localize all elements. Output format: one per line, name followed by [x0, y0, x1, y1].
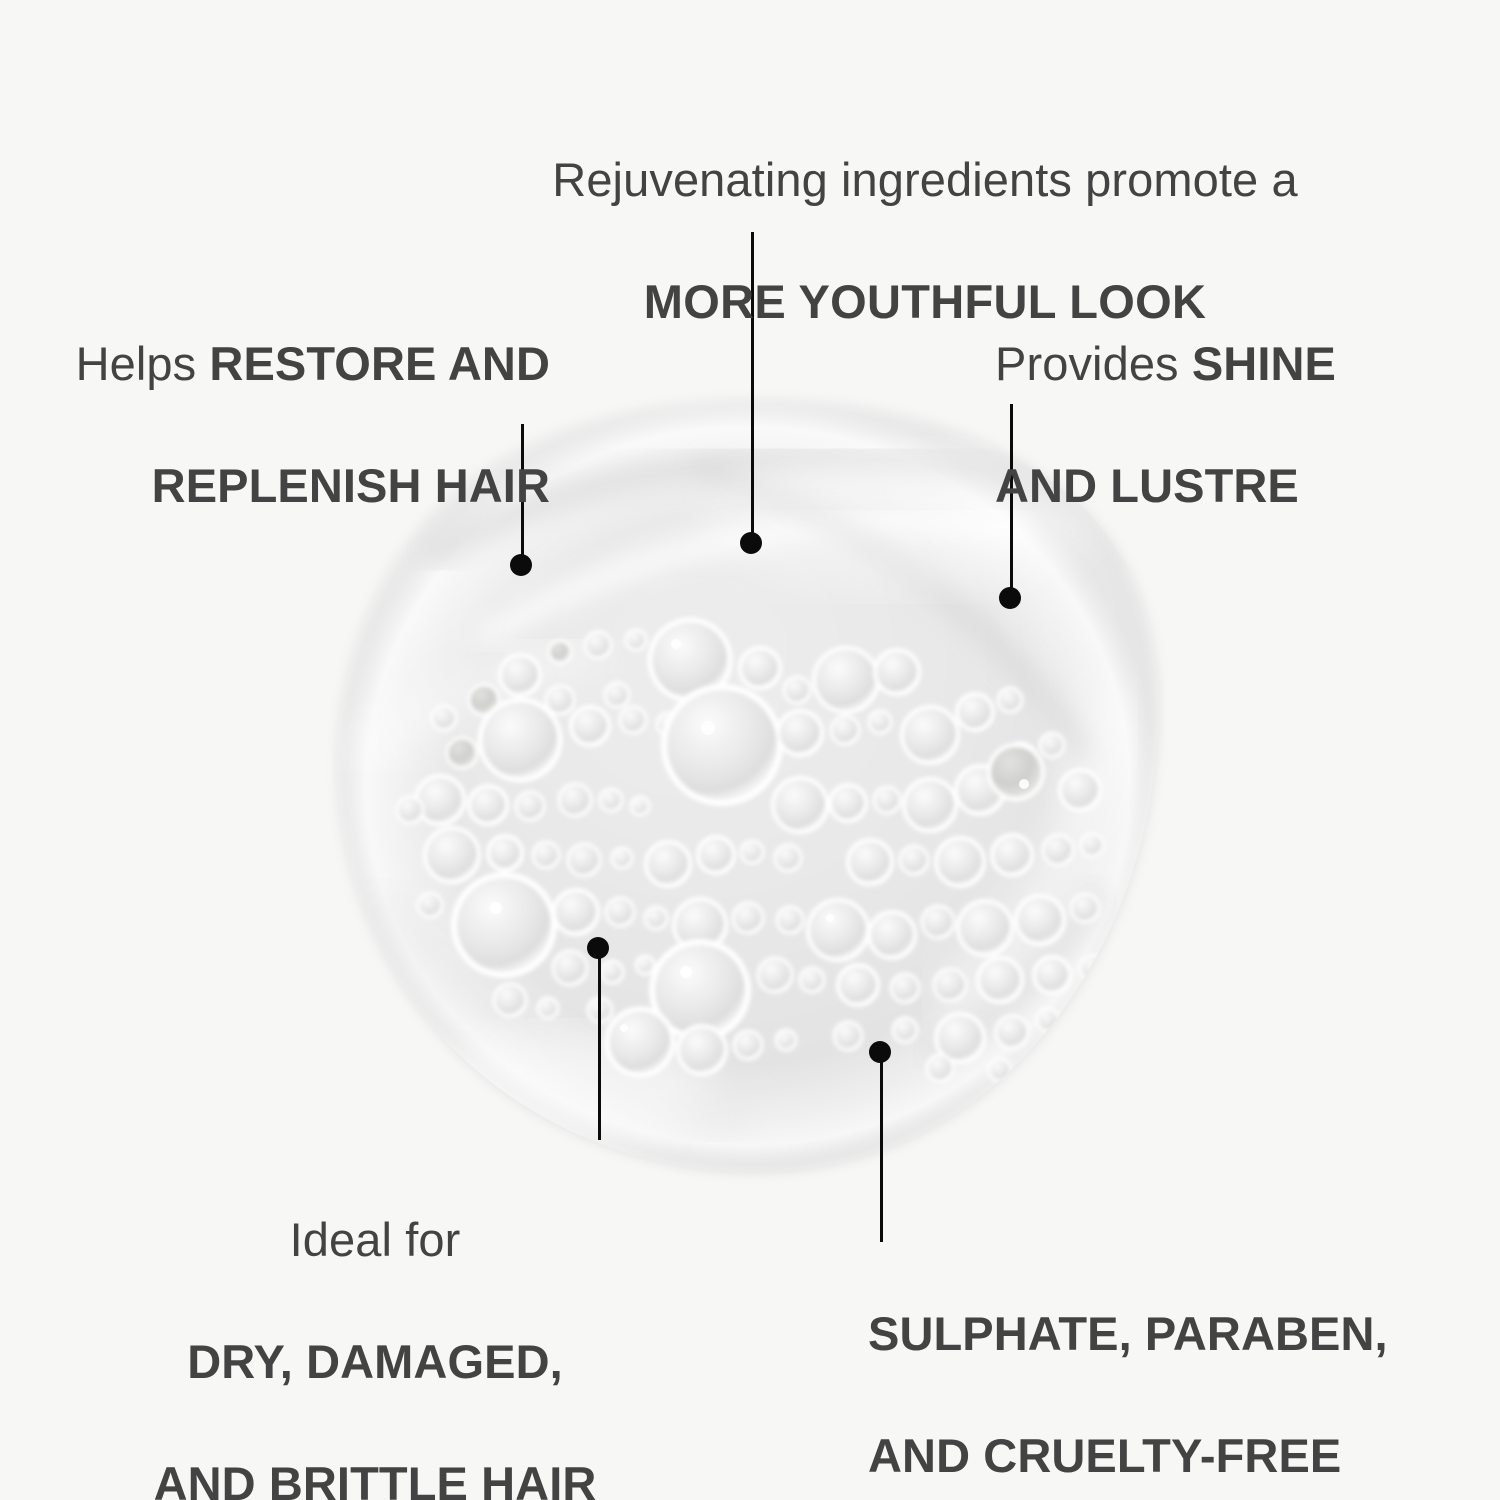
callout-shine-line1: Provides SHINE	[995, 333, 1495, 394]
callout-dry-line1: Ideal for	[95, 1209, 655, 1270]
isolated-bubble	[989, 745, 1043, 799]
callout-sulphate-paraben-free: SULPHATE, PARABEN, AND CRUELTY-FREE	[868, 1242, 1488, 1500]
callout-dry-line2: DRY, DAMAGED,	[95, 1331, 655, 1392]
callout-sulphate-line1: SULPHATE, PARABEN,	[868, 1303, 1488, 1364]
leader-dot-sulphate	[869, 1041, 891, 1063]
callout-dry-line3: AND BRITTLE HAIR	[95, 1453, 655, 1500]
callout-restore-replenish: Helps RESTORE AND REPLENISH HAIR	[10, 272, 550, 577]
callout-shine-line2: AND LUSTRE	[995, 455, 1495, 516]
callout-restore-line1: Helps RESTORE AND	[10, 333, 550, 394]
callout-restore-line2: REPLENISH HAIR	[10, 455, 550, 516]
callout-shine-lustre: Provides SHINE AND LUSTRE	[995, 272, 1495, 577]
leader-dot-shine	[999, 587, 1021, 609]
leader-dot-youthful	[740, 532, 762, 554]
callout-dry-damaged-brittle: Ideal for DRY, DAMAGED, AND BRITTLE HAIR	[95, 1148, 655, 1500]
callout-sulphate-line2: AND CRUELTY-FREE	[868, 1425, 1488, 1486]
leader-line-sulphate	[880, 1056, 883, 1242]
infographic-canvas: Rejuvenating ingredients promote a MORE …	[0, 0, 1500, 1500]
leader-dot-dry	[587, 937, 609, 959]
callout-youthful-line1: Rejuvenating ingredients promote a	[370, 149, 1480, 210]
leader-line-dry	[598, 952, 601, 1140]
